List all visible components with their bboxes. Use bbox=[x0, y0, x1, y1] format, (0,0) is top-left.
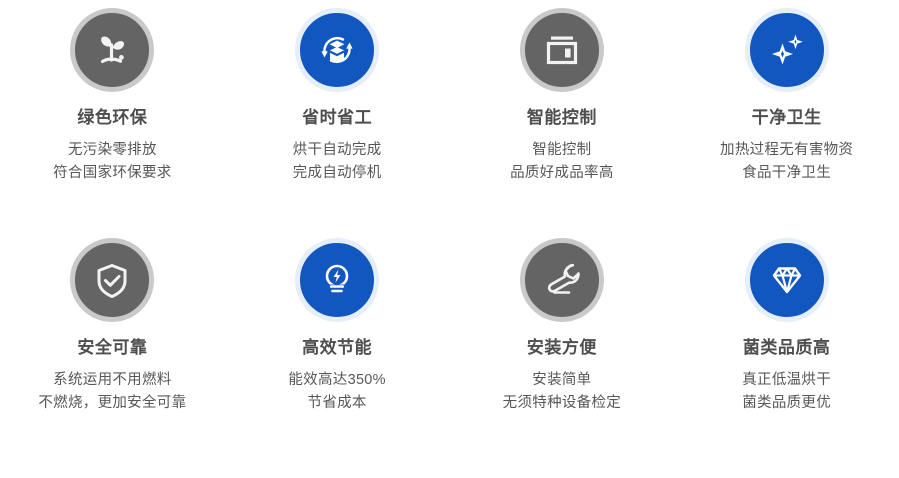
feature-card-quality: 菌类品质高 真正低温烘干 菌类品质更优 bbox=[674, 238, 899, 468]
box-refresh-icon-badge bbox=[295, 8, 379, 92]
control-panel-icon-badge bbox=[520, 8, 604, 92]
card-description: 真正低温烘干 菌类品质更优 bbox=[742, 369, 831, 416]
bulb-bolt-icon-badge bbox=[295, 238, 379, 322]
sparkle-icon bbox=[764, 27, 810, 73]
feature-card-smart-control: 智能控制 智能控制 品质好成品率高 bbox=[450, 8, 675, 238]
sparkle-icon-badge bbox=[745, 8, 829, 92]
diamond-icon bbox=[765, 258, 809, 302]
card-title: 安全可靠 bbox=[77, 339, 147, 356]
desc-line: 完成自动停机 bbox=[293, 162, 382, 185]
shield-check-icon bbox=[90, 258, 134, 302]
card-title: 高效节能 bbox=[302, 339, 372, 356]
wrench-icon bbox=[539, 257, 585, 303]
card-description: 安装简单 无须特种设备检定 bbox=[503, 369, 621, 416]
card-description: 加热过程无有害物资 食品干净卫生 bbox=[720, 139, 853, 186]
desc-line: 食品干净卫生 bbox=[720, 162, 853, 185]
card-description: 智能控制 品质好成品率高 bbox=[510, 139, 614, 186]
control-panel-icon bbox=[540, 28, 584, 72]
desc-line: 节省成本 bbox=[288, 392, 386, 415]
card-description: 无污染零排放 符合国家环保要求 bbox=[53, 139, 171, 186]
card-title: 智能控制 bbox=[527, 109, 597, 126]
desc-line: 安装简单 bbox=[503, 369, 621, 392]
card-title: 干净卫生 bbox=[752, 109, 822, 126]
card-title: 绿色环保 bbox=[77, 109, 147, 126]
desc-line: 菌类品质更优 bbox=[742, 392, 831, 415]
sprout-icon-badge bbox=[70, 8, 154, 92]
desc-line: 品质好成品率高 bbox=[510, 162, 614, 185]
diamond-icon-badge bbox=[745, 238, 829, 322]
desc-line: 加热过程无有害物资 bbox=[720, 139, 853, 162]
shield-check-icon-badge bbox=[70, 238, 154, 322]
feature-card-easy-install: 安装方便 安装简单 无须特种设备检定 bbox=[450, 238, 675, 468]
feature-grid: 绿色环保 无污染零排放 符合国家环保要求 省时省工 bbox=[0, 0, 899, 468]
desc-line: 能效高达350% bbox=[288, 369, 386, 392]
box-refresh-icon bbox=[313, 26, 361, 74]
card-title: 菌类品质高 bbox=[743, 339, 831, 356]
card-title: 安装方便 bbox=[527, 339, 597, 356]
wrench-icon-badge bbox=[520, 238, 604, 322]
desc-line: 系统运用不用燃料 bbox=[38, 369, 186, 392]
card-title: 省时省工 bbox=[302, 109, 372, 126]
desc-line: 烘干自动完成 bbox=[293, 139, 382, 162]
feature-card-safety: 安全可靠 系统运用不用燃料 不燃烧，更加安全可靠 bbox=[0, 238, 225, 468]
feature-card-time-saving: 省时省工 烘干自动完成 完成自动停机 bbox=[225, 8, 450, 238]
desc-line: 真正低温烘干 bbox=[742, 369, 831, 392]
feature-card-green: 绿色环保 无污染零排放 符合国家环保要求 bbox=[0, 8, 225, 238]
desc-line: 无污染零排放 bbox=[53, 139, 171, 162]
desc-line: 无须特种设备检定 bbox=[503, 392, 621, 415]
desc-line: 符合国家环保要求 bbox=[53, 162, 171, 185]
card-description: 能效高达350% 节省成本 bbox=[288, 369, 386, 416]
sprout-icon bbox=[89, 27, 135, 73]
card-description: 烘干自动完成 完成自动停机 bbox=[293, 139, 382, 186]
card-description: 系统运用不用燃料 不燃烧，更加安全可靠 bbox=[38, 369, 186, 416]
desc-line: 不燃烧，更加安全可靠 bbox=[38, 392, 186, 415]
feature-card-energy-saving: 高效节能 能效高达350% 节省成本 bbox=[225, 238, 450, 468]
desc-line: 智能控制 bbox=[510, 139, 614, 162]
feature-card-hygiene: 干净卫生 加热过程无有害物资 食品干净卫生 bbox=[674, 8, 899, 238]
bulb-bolt-icon bbox=[315, 258, 359, 302]
